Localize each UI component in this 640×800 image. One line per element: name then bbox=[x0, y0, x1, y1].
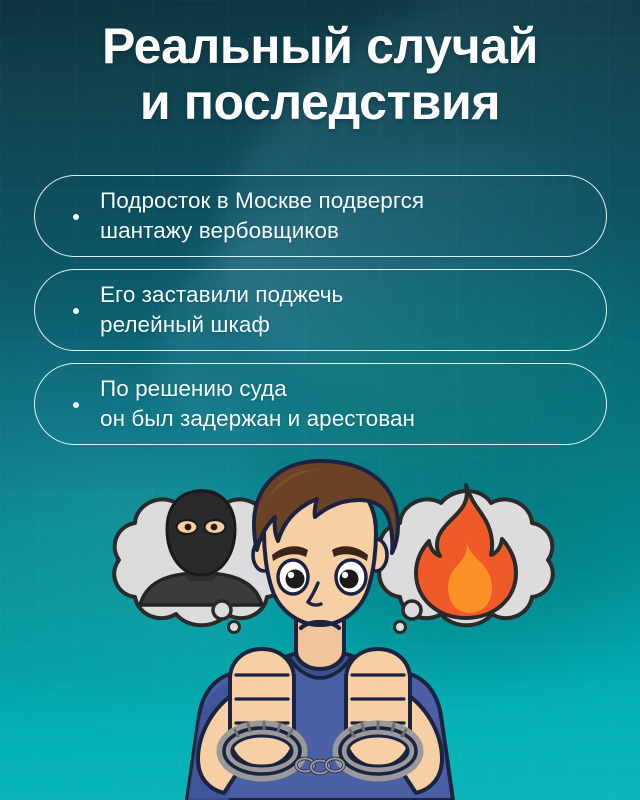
bullet-card-3-text: По решению суда он был задержан и аресто… bbox=[100, 374, 415, 434]
bullet-card-2-line-1: Его заставили поджечь bbox=[100, 280, 343, 310]
page-title: Реальный случай и последствия bbox=[0, 18, 640, 130]
boy-fist-right bbox=[346, 649, 410, 767]
boy-eye-right bbox=[336, 560, 366, 594]
thought-tail-left-1 bbox=[213, 601, 231, 619]
bullet-dot-icon bbox=[73, 214, 79, 220]
bullet-card-1: Подросток в Москве подвергся шантажу вер… bbox=[34, 175, 607, 257]
right-thought-bubble bbox=[379, 485, 553, 633]
boy-eye-left bbox=[278, 560, 308, 594]
bullet-card-3-line-1: По решению суда bbox=[100, 374, 415, 404]
bullet-card-3: По решению суда он был задержан и аресто… bbox=[34, 363, 607, 445]
illustration bbox=[0, 455, 640, 800]
title-line-1: Реальный случай bbox=[102, 18, 538, 74]
bullet-card-2: Его заставили поджечь релейный шкаф bbox=[34, 269, 607, 351]
thought-tail-right-1 bbox=[403, 601, 421, 619]
bullet-card-3-line-2: он был задержан и арестован bbox=[100, 404, 415, 434]
bullet-card-1-text: Подросток в Москве подвергся шантажу вер… bbox=[100, 186, 424, 246]
bullet-card-2-text: Его заставили поджечь релейный шкаф bbox=[100, 280, 343, 340]
boy-fist-left bbox=[230, 649, 294, 767]
poster-root: Реальный случай и последствия Подросток … bbox=[0, 0, 640, 800]
bullet-card-1-line-1: Подросток в Москве подвергся bbox=[100, 186, 424, 216]
bullet-dot-icon bbox=[73, 402, 79, 408]
bullet-card-2-line-2: релейный шкаф bbox=[100, 310, 343, 340]
title-line-2: и последствия bbox=[0, 74, 640, 130]
bullet-dot-icon bbox=[73, 308, 79, 314]
thought-tail-right-2 bbox=[395, 622, 406, 633]
bullet-list: Подросток в Москве подвергся шантажу вер… bbox=[34, 175, 607, 457]
thought-tail-left-2 bbox=[229, 622, 240, 633]
bullet-card-1-line-2: шантажу вербовщиков bbox=[100, 216, 424, 246]
